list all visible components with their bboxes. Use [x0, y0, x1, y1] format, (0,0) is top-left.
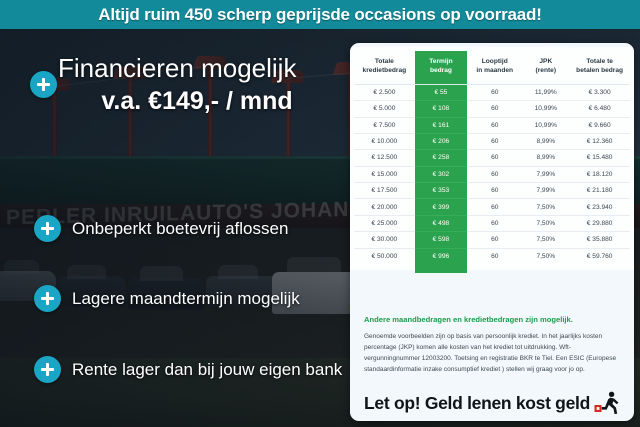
- promo-bullet-3: Rente lager dan bij jouw eigen bank: [34, 356, 342, 383]
- table-row: € 25.000€ 498607,50%€ 29.880: [354, 215, 630, 231]
- table-cell: 60: [467, 199, 522, 215]
- disclaimer-title: Andere maandbedragen en kredietbedragen …: [364, 315, 620, 325]
- table-row: € 5.000€ 1086010,99%€ 6.480: [354, 101, 630, 117]
- table-row: € 15.000€ 302607,99%€ 18.120: [354, 166, 630, 182]
- table-row: € 12.500€ 258608,99%€ 15.480: [354, 150, 630, 166]
- table-cell: € 15.000: [354, 166, 415, 182]
- table-cell: 7,99%: [522, 183, 569, 199]
- table-cell: € 30.000: [354, 232, 415, 248]
- table-cell: 60: [467, 133, 522, 149]
- table-cell: € 55: [415, 84, 467, 100]
- financing-rates-table: Totalekredietbedrag Termijnbedrag Loopti…: [354, 51, 630, 264]
- table-cell: € 996: [415, 248, 467, 264]
- table-cell: € 3.300: [569, 84, 630, 100]
- table-cell: 10,99%: [522, 117, 569, 133]
- table-cell: 7,50%: [522, 215, 569, 231]
- table-cell: € 12.500: [354, 150, 415, 166]
- table-cell: € 161: [415, 117, 467, 133]
- rates-table-head: Totalekredietbedrag Termijnbedrag Loopti…: [354, 51, 630, 84]
- plus-circle-icon: [30, 71, 57, 98]
- top-banner-text: Altijd ruim 450 scherp geprijsde occasio…: [98, 5, 541, 25]
- table-cell: € 399: [415, 199, 467, 215]
- rates-table-container: Totalekredietbedrag Termijnbedrag Loopti…: [350, 47, 634, 270]
- table-cell: € 21.180: [569, 183, 630, 199]
- top-banner: Altijd ruim 450 scherp geprijsde occasio…: [0, 0, 640, 29]
- headline-line-1: Financieren mogelijk: [58, 55, 348, 83]
- table-cell: € 18.120: [569, 166, 630, 182]
- table-row: € 7.500€ 1616010,99%€ 9.660: [354, 117, 630, 133]
- headline-line-2: v.a. €149,- / mnd: [58, 87, 348, 117]
- table-cell: 7,50%: [522, 199, 569, 215]
- table-cell: 60: [467, 166, 522, 182]
- table-cell: € 302: [415, 166, 467, 182]
- table-cell: 60: [467, 150, 522, 166]
- table-cell: 60: [467, 248, 522, 264]
- col-header-duration: Looptijdin maanden: [467, 51, 522, 84]
- table-cell: € 17.500: [354, 183, 415, 199]
- table-cell: € 35.880: [569, 232, 630, 248]
- table-header-row: Totalekredietbedrag Termijnbedrag Loopti…: [354, 51, 630, 84]
- table-cell: € 5.000: [354, 101, 415, 117]
- table-cell: € 108: [415, 101, 467, 117]
- table-cell: € 12.360: [569, 133, 630, 149]
- table-cell: € 50.000: [354, 248, 415, 264]
- table-cell: € 25.000: [354, 215, 415, 231]
- table-cell: € 10.000: [354, 133, 415, 149]
- table-cell: 60: [467, 117, 522, 133]
- promo-bullet-1: Onbeperkt boetevrij aflossen: [34, 215, 288, 242]
- table-cell: € 6.480: [569, 101, 630, 117]
- table-row: € 17.500€ 353607,99%€ 21.180: [354, 183, 630, 199]
- promo-left-column: Financieren mogelijk v.a. €149,- / mnd O…: [0, 29, 348, 427]
- table-cell: € 206: [415, 133, 467, 149]
- table-cell: € 7.500: [354, 117, 415, 133]
- table-cell: € 15.480: [569, 150, 630, 166]
- disclaimer-body: Genoemde voorbeelden zijn op basis van p…: [364, 331, 620, 376]
- table-cell: 8,99%: [522, 150, 569, 166]
- promo-bullet-1-label: Onbeperkt boetevrij aflossen: [72, 219, 288, 239]
- table-cell: € 9.660: [569, 117, 630, 133]
- col-header-total-payable: Totale tebetalen bedrag: [569, 51, 630, 84]
- col-header-total-credit: Totalekredietbedrag: [354, 51, 415, 84]
- promo-bullet-3-label: Rente lager dan bij jouw eigen bank: [72, 360, 342, 380]
- table-row: € 2.500€ 556011,99%€ 3.300: [354, 84, 630, 100]
- table-cell: 8,99%: [522, 133, 569, 149]
- table-cell: € 59.760: [569, 248, 630, 264]
- table-cell: 60: [467, 84, 522, 100]
- plus-circle-icon: [34, 356, 61, 383]
- table-cell: € 258: [415, 150, 467, 166]
- table-cell: 11,99%: [522, 84, 569, 100]
- table-row: € 30.000€ 598607,50%€ 35.880: [354, 232, 630, 248]
- table-cell: € 20.000: [354, 199, 415, 215]
- table-cell: 7,50%: [522, 232, 569, 248]
- walking-man-icon: [594, 391, 620, 415]
- table-row: € 20.000€ 399607,50%€ 23.940: [354, 199, 630, 215]
- table-cell: 10,99%: [522, 101, 569, 117]
- table-cell: € 2.500: [354, 84, 415, 100]
- table-cell: 60: [467, 215, 522, 231]
- lending-warning-text: Let op! Geld lenen kost geld: [364, 393, 590, 414]
- table-cell: € 598: [415, 232, 467, 248]
- promo-bullet-2-label: Lagere maandtermijn mogelijk: [72, 289, 300, 309]
- table-cell: 7,50%: [522, 248, 569, 264]
- promo-headline: Financieren mogelijk v.a. €149,- / mnd: [58, 55, 348, 116]
- table-cell: 60: [467, 232, 522, 248]
- table-cell: 60: [467, 101, 522, 117]
- disclaimer-note: Andere maandbedragen en kredietbedragen …: [350, 315, 634, 376]
- plus-circle-icon: [34, 285, 61, 312]
- table-cell: 7,99%: [522, 166, 569, 182]
- table-row: € 50.000€ 996607,50%€ 59.760: [354, 248, 630, 264]
- rates-table-body: € 2.500€ 556011,99%€ 3.300€ 5.000€ 10860…: [354, 84, 630, 264]
- table-cell: € 353: [415, 183, 467, 199]
- col-header-monthly-amount: Termijnbedrag: [415, 51, 467, 84]
- promo-banner-image: PERLER INRUILAUTO'S JOHAN MEURE ALTIJD 4…: [0, 0, 640, 427]
- col-header-jpk: JPK(rente): [522, 51, 569, 84]
- table-cell: € 498: [415, 215, 467, 231]
- promo-bullet-2: Lagere maandtermijn mogelijk: [34, 285, 300, 312]
- headline-bullet: [30, 71, 57, 98]
- highlight-column-tail: [415, 264, 467, 273]
- lending-warning: Let op! Geld lenen kost geld: [350, 391, 634, 415]
- plus-circle-icon: [34, 215, 61, 242]
- table-row: € 10.000€ 206608,99%€ 12.360: [354, 133, 630, 149]
- table-cell: € 23.940: [569, 199, 630, 215]
- table-cell: 60: [467, 183, 522, 199]
- table-cell: € 29.880: [569, 215, 630, 231]
- financing-info-card: Totalekredietbedrag Termijnbedrag Loopti…: [350, 43, 634, 421]
